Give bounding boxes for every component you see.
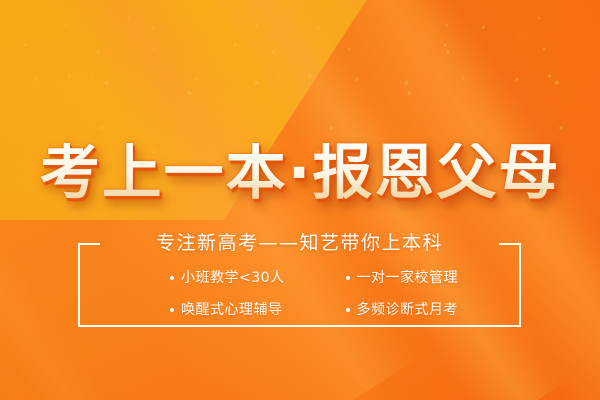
bullet-dot-icon (170, 308, 174, 312)
headline: 考上一本 · 报恩父母 (0, 137, 600, 209)
feature-label: 多频诊断式月考 (357, 300, 459, 321)
feature-label: 唤醒式心理辅导 (181, 300, 283, 321)
feature-label: 一对一家校管理 (357, 268, 459, 289)
subtitle-text: 专注新高考——知艺带你上本科 (144, 234, 455, 253)
bullet-dot-icon (346, 276, 350, 280)
bullet-dot-icon (346, 308, 350, 312)
list-item: 小班教学<30人 (170, 263, 285, 293)
list-item: 一对一家校管理 (346, 263, 459, 293)
feature-list: 小班教学<30人 一对一家校管理 唤醒式心理辅导 多频诊断式月考 (78, 263, 521, 325)
subtitle-row: 专注新高考——知艺带你上本科 (78, 231, 521, 255)
headline-separator-dot: · (288, 143, 313, 203)
list-item: 唤醒式心理辅导 (170, 295, 283, 325)
bullet-dot-icon (170, 276, 174, 280)
headline-right-text: 报恩父母 (312, 143, 560, 203)
headline-left-text: 考上一本 (40, 143, 288, 203)
list-item: 多频诊断式月考 (346, 295, 459, 325)
promo-banner: 考上一本 · 报恩父母 专注新高考——知艺带你上本科 小班教学<30人 一对一家… (0, 0, 600, 400)
feature-label: 小班教学<30人 (181, 268, 285, 289)
